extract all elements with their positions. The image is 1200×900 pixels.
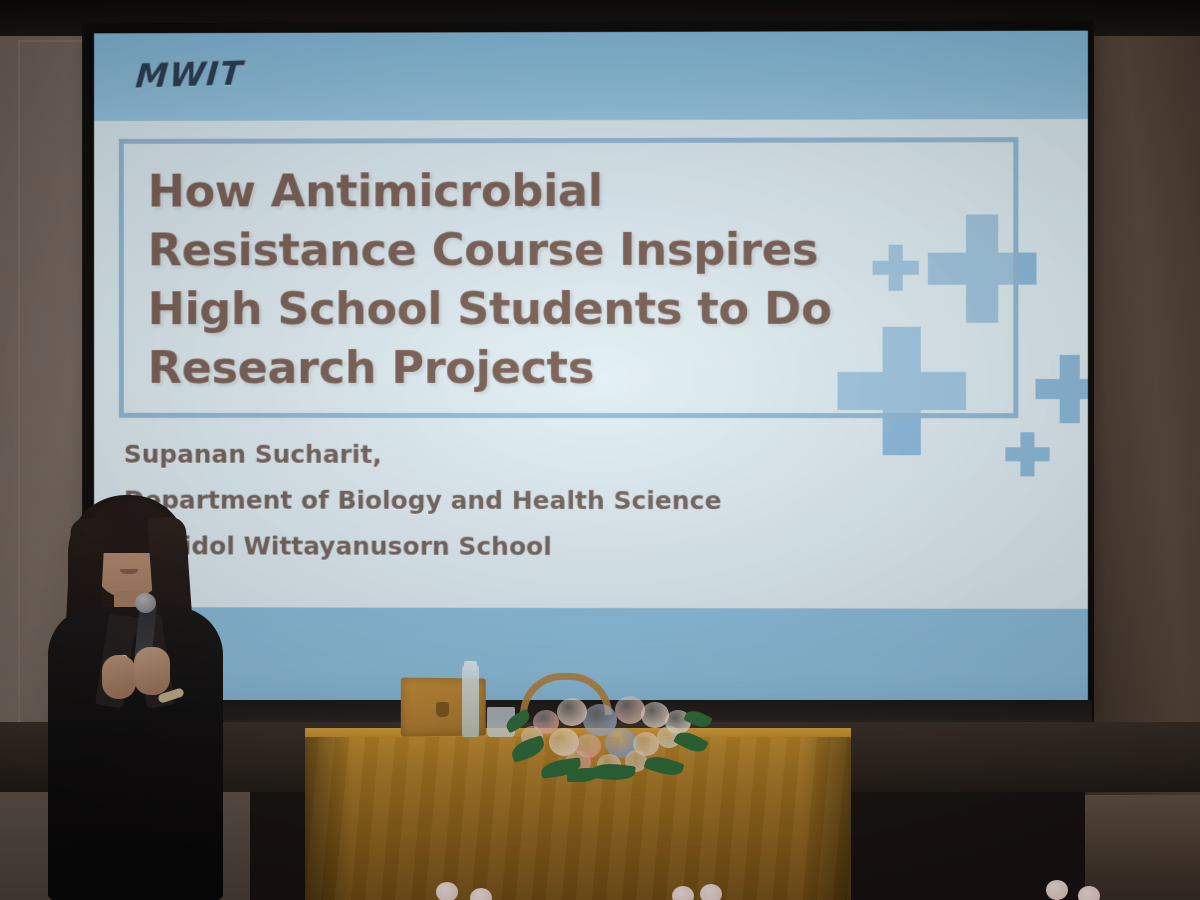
speaker-hand-left [102,655,136,699]
flower-arrangement [505,676,710,772]
table-shadow-right [801,737,851,900]
mini-flower-3 [672,886,694,900]
title-line-1: How Antimicrobial [148,160,1008,220]
mwit-logo: MWIT [134,53,245,95]
mini-flower-4 [700,884,722,900]
water-bottle-cap [464,661,477,670]
water-bottle [462,665,479,737]
slide-title-box: How Antimicrobial Resistance Course Insp… [119,137,1019,418]
mini-flower-5 [1046,880,1068,900]
presentation-photo-scene: MWIT How Antimicrobial Resistance Course… [0,0,1200,900]
speaker-hand-right [134,647,170,695]
cross-medium-right-icon [1036,355,1088,423]
laptop-logo [436,702,449,717]
byline-author: Supanan Sucharit, [124,432,943,479]
mini-flower-1 [436,882,458,900]
title-line-2: Resistance Course Inspires [148,219,1008,279]
speaker-mouth [120,569,138,574]
title-line-3: High School Students to Do [148,279,1008,338]
slide-top-band [94,31,1088,121]
cross-tiny-bottom-icon [1005,432,1049,476]
table-shadow-left [305,737,353,900]
flower-leaf [509,735,547,763]
mini-flower-6 [1078,886,1100,900]
slide-title: How Antimicrobial Resistance Course Insp… [148,160,1008,397]
wall-panel-line-side [18,40,20,730]
flower-blossom [615,696,645,724]
title-line-4: Research Projects [148,338,1008,397]
right-wall-base [1085,795,1200,900]
speaker [40,495,255,900]
